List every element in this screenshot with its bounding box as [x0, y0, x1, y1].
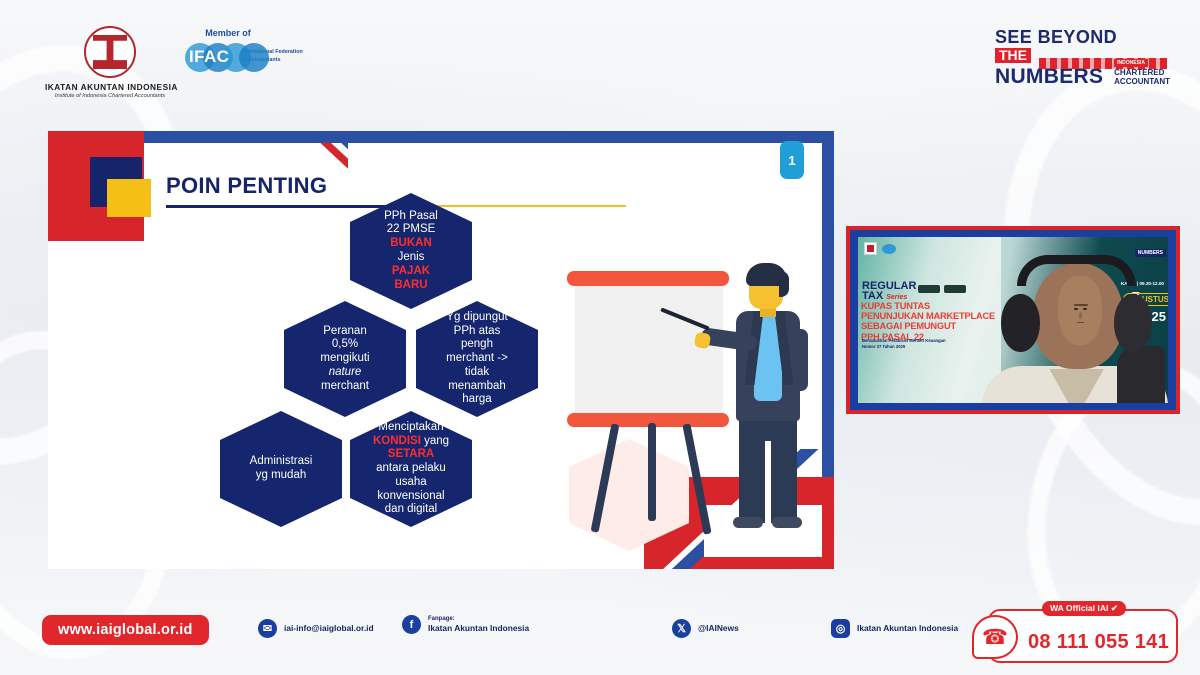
hexagon-peranan[interactable]: Peranan0,5%mengikutinaturemerchant: [284, 301, 406, 417]
flipchart-top-bar: [567, 271, 729, 286]
hexagon-line: PPh atas: [454, 325, 501, 337]
ifac-acronym: IFAC: [189, 47, 237, 67]
hexagon-line: menambah: [448, 380, 506, 392]
hexagon-line: dan digital: [385, 503, 437, 515]
hexagon-line: harga: [462, 393, 491, 405]
hexagon-line: Jenis: [398, 251, 425, 263]
presenter-shoe: [733, 517, 763, 528]
hexagon-line: Yg dipungut: [446, 311, 507, 323]
participant-shoulder: [1117, 346, 1165, 403]
webcam-panel[interactable]: REGULAR TAX Series KUPAS TUNTAS PENUNJUK…: [846, 226, 1180, 414]
hexagon-diagram: PPh Pasal22 PMSEBUKANJenisPAJAKBARU Pera…: [198, 193, 558, 553]
see-beyond-numbers-logo: SEE BEYOND THE NUMBERS INDONESIA CHARTER…: [995, 28, 1170, 87]
hexagon-line: Administrasi: [250, 455, 313, 467]
footer-x-label: @IAINews: [698, 623, 739, 634]
footer-facebook-caption: Fanpage:: [428, 616, 529, 624]
chartered-accountant-badge: INDONESIA CHARTERED ACCOUNTANT: [1114, 51, 1170, 86]
presenter-hair-side: [779, 271, 789, 297]
page-header: IKATAN AKUNTAN INDONESIA Institute of In…: [0, 0, 1200, 112]
hexagon-line: KONDISI: [373, 435, 421, 447]
hexagon-line: konvensional: [377, 490, 444, 502]
hexagon-line: Menciptakan: [378, 421, 443, 433]
whatsapp-number: 08 111 055 141: [1028, 631, 1169, 654]
ifac-logo: Member of IFAC International Federation …: [185, 28, 305, 74]
footer-facebook-block: Fanpage: Ikatan Akuntan Indonesia: [428, 616, 529, 634]
campaign-country-tag: INDONESIA: [1114, 59, 1148, 67]
iai-logo: IKATAN AKUNTAN INDONESIA Institute of In…: [45, 26, 175, 99]
iai-emblem-icon: [84, 26, 136, 78]
footer-email-label: iai-info@iaiglobal.or.id: [284, 623, 374, 634]
hexagon-line: BARU: [394, 279, 427, 291]
iai-logo-name: IKATAN AKUNTAN INDONESIA: [45, 82, 175, 92]
accountant-label: ACCOUNTANT: [1114, 78, 1170, 86]
hexagon-yg-dipungut[interactable]: Yg dipungutPPh ataspenghmerchant ->tidak…: [416, 301, 538, 417]
easel-leg: [648, 423, 656, 521]
hexagon-line: Peranan: [323, 325, 366, 337]
whatsapp-official-tag: WA Official IAI ✔: [1042, 601, 1126, 616]
footer-instagram-label: Ikatan Akuntan Indonesia: [857, 623, 958, 634]
hexagon-line: nature: [329, 366, 362, 378]
hexagon-line: mengikuti: [320, 352, 369, 364]
headphones-band-icon: [1017, 255, 1136, 286]
verified-icon: ✔: [1111, 603, 1118, 613]
footer-contact-instagram[interactable]: ◎ Ikatan Akuntan Indonesia: [831, 619, 958, 638]
hexagon-line: antara pelaku: [376, 462, 446, 474]
poster-logos: [864, 242, 896, 255]
webcam-participant: [994, 260, 1155, 403]
poster-ifac-icon: [882, 244, 896, 254]
poster-iai-icon: [864, 242, 877, 255]
slide-yellow-square: [107, 179, 151, 217]
email-icon: ✉: [258, 619, 277, 638]
presenter-illustration: [553, 261, 813, 556]
hexagon-line: SETARA: [388, 448, 434, 460]
webinar-poster-backdrop: REGULAR TAX Series KUPAS TUNTAS PENUNJUK…: [858, 237, 1001, 403]
footer-contact-email[interactable]: ✉ iai-info@iaiglobal.or.id: [258, 619, 374, 638]
poster-title: KUPAS TUNTAS PENUNJUKAN MARKETPLACE SEBA…: [861, 301, 1011, 342]
hexagon-line: pengh: [461, 338, 493, 350]
hexagon-administrasi[interactable]: Administrasiyg mudah: [220, 411, 342, 527]
facebook-icon: f: [402, 615, 421, 634]
instagram-icon: ◎: [831, 619, 850, 638]
hexagon-line: 0,5%: [332, 338, 358, 350]
x-twitter-icon: 𝕏: [672, 619, 691, 638]
hexagon-line: PPh Pasal: [384, 210, 438, 222]
poster-date-block: NUMBERS: [1135, 241, 1166, 259]
screen-root: IKATAN AKUNTAN INDONESIA Institute of In…: [0, 0, 1200, 675]
poster-subtitle: Berdasarkan Peraturan Menteri Keuangan N…: [862, 338, 992, 349]
presenter-leg-gap: [765, 441, 771, 523]
whatsapp-contact-card[interactable]: ☎ WA Official IAI ✔ 08 111 055 141: [988, 609, 1178, 663]
headphone-earcup-icon: [1114, 294, 1153, 351]
ifac-member-label: Member of: [185, 28, 271, 38]
page-footer: www.iaiglobal.or.id ✉ iai-info@iaiglobal…: [0, 603, 1200, 675]
headphone-earcup-icon: [1001, 294, 1040, 351]
whatsapp-icon: ☎: [972, 615, 1018, 659]
poster-partner-chips: [918, 285, 966, 293]
hexagon-line: yang: [421, 435, 449, 447]
hexagon-line: yg mudah: [256, 469, 307, 481]
ifac-mark-icon: IFAC: [185, 40, 237, 74]
webcam-video-feed[interactable]: REGULAR TAX Series KUPAS TUNTAS PENUNJUK…: [858, 237, 1168, 403]
campaign-line-2: THE: [995, 48, 1031, 63]
decorative-hexagon-shadow: [569, 439, 689, 551]
hexagon-line: merchant: [321, 380, 369, 392]
iai-logo-tagline: Institute of Indonesia Chartered Account…: [45, 93, 175, 99]
hexagon-kondisi-setara[interactable]: MenciptakanKONDISI yangSETARAantara pela…: [350, 411, 472, 527]
footer-facebook-label: Ikatan Akuntan Indonesia: [428, 623, 529, 633]
poster-brand-label: NUMBERS: [1135, 249, 1166, 257]
website-url-button[interactable]: www.iaiglobal.or.id: [42, 615, 209, 645]
hexagon-line: tidak: [465, 366, 489, 378]
participant-face: [1058, 276, 1101, 346]
presentation-slide[interactable]: POIN PENTING 1 PPh Pasal22 PMSEBUKANJeni…: [48, 131, 834, 569]
poster-program-name: REGULAR TAX Series: [862, 281, 916, 302]
hexagon-line: 22 PMSE: [387, 223, 436, 235]
slide-top-bar: [144, 131, 834, 143]
slide-page-badge: 1: [780, 141, 804, 179]
hexagon-line: usaha: [395, 476, 426, 488]
footer-contact-x[interactable]: 𝕏 @IAINews: [672, 619, 739, 638]
hexagon-line: merchant ->: [446, 352, 508, 364]
flipchart-board-icon: [575, 279, 723, 419]
footer-contact-facebook[interactable]: f Fanpage: Ikatan Akuntan Indonesia: [402, 615, 529, 634]
hexagon-line: BUKAN: [390, 237, 432, 249]
presenter-shoe: [772, 517, 802, 528]
presenter-right-arm: [793, 329, 808, 391]
hexagon-line: PAJAK: [392, 265, 430, 277]
campaign-line-1: SEE BEYOND: [995, 28, 1170, 46]
hexagon-pph-pasal-22[interactable]: PPh Pasal22 PMSEBUKANJenisPAJAKBARU: [350, 193, 472, 309]
